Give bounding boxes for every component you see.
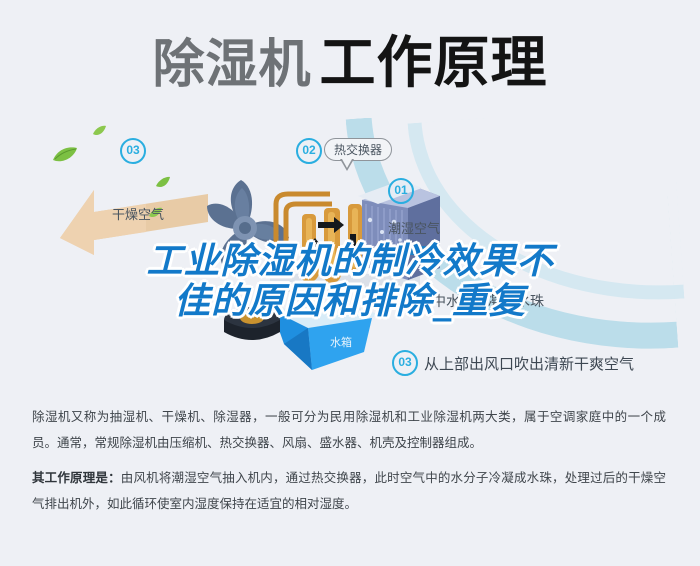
callout-label-humid-air: 潮湿空气 [388,218,440,237]
callout-badge-03: 03 [120,138,146,164]
compressor-icon [218,300,290,352]
callout-badge-01: 01 [388,178,414,204]
step-badge-03: 03 [392,350,418,376]
paragraph-1: 除湿机又称为抽湿机、干燥机、除湿器，一般可分为民用除湿机和工业除湿机两大类，属于… [0,404,700,455]
paragraph-2-lead: 其工作原理是： [32,470,121,485]
leaf-icon [52,146,78,169]
callout-bubble-heat-exchanger: 热交换器 [324,138,392,161]
step-03-row: 03 从上部出风口吹出清新干爽空气 [392,350,634,376]
tank-label-text: 水箱 [330,335,352,349]
condensation-note: 空气中水分冷凝成水珠 [404,291,544,311]
callout-badge-02: 02 [296,138,322,164]
step-03-text: 从上部出风口吹出清新干爽空气 [424,353,634,374]
paragraph-2-rest: 由风机将潮湿空气抽入机内，通过热交换器，此时空气中的水分子冷凝成水珠，处理过后的… [32,470,666,511]
dehumidifier-illustration: 水箱 03 干燥空气 02 热交换器 01 潮湿空气 空气中水分冷凝成水珠 03 [0,118,700,398]
page-title: 除湿机工作原理 [0,18,700,99]
paragraph-2: 其工作原理是：由风机将潮湿空气抽入机内，通过热交换器，此时空气中的水分子冷凝成水… [0,465,700,516]
leaf-icon [92,124,107,142]
infographic-page: 除湿机工作原理 [0,0,700,566]
humid-air-arrow-head-icon [382,241,396,259]
humid-air-arrow-tail-icon [396,246,426,255]
title-black-part: 工作原理 [320,31,548,96]
bubble-tail-icon [340,159,354,171]
callout-label-dry-air: 干燥空气 [112,204,164,223]
article-body: 除湿机又称为抽湿机、干燥机、除湿器，一般可分为民用除湿机和工业除湿机两大类，属于… [0,404,700,527]
leaf-icon [155,176,171,194]
title-gray-part: 除湿机 [152,35,311,95]
